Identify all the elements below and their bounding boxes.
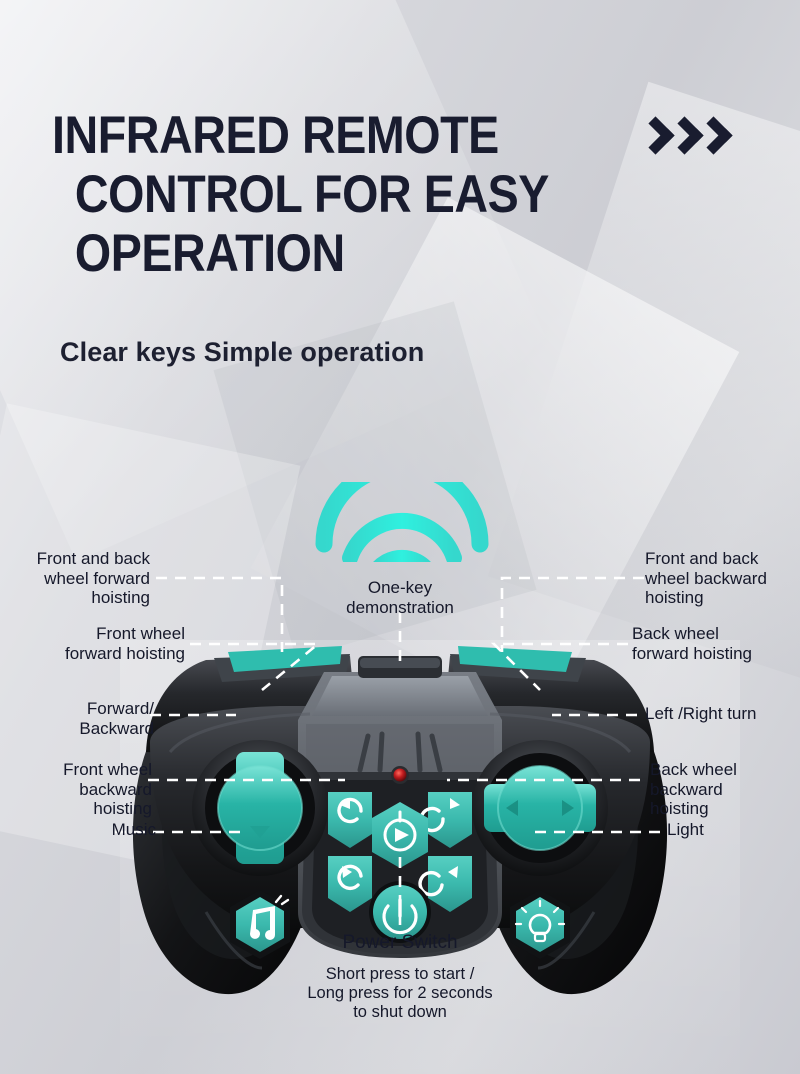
callout-front-wheel-backward-hoisting: Front wheel backward hoisting [63, 760, 152, 819]
page-subtitle: Clear keys Simple operation [60, 337, 424, 368]
headline-line-1: INFRARED REMOTE [52, 106, 499, 165]
callout-back-wheel-backward-hoisting: Back wheel backward hoisting [650, 760, 737, 819]
wifi-waves-icon [312, 482, 492, 562]
page-title: INFRARED REMOTE CONTROL FOR EASY OPERATI… [52, 106, 668, 283]
callout-back-wheel-forward-hoisting: Back wheel forward hoisting [632, 624, 752, 663]
headline-line-2: CONTROL FOR EASY OPERATION [75, 165, 668, 283]
chevron-right-icon [669, 116, 695, 164]
callout-left-right-turn: Left /Right turn [645, 704, 757, 724]
chevron-right-icon [698, 116, 724, 164]
callout-forward-backward: Forward/ Backward [79, 699, 154, 738]
callout-power-switch-title: Power Switch [0, 933, 800, 953]
callout-front-wheel-forward-hoisting: Front wheel forward hoisting [65, 624, 185, 663]
infographic-stage: INFRARED REMOTE CONTROL FOR EASY OPERATI… [0, 0, 800, 1074]
callout-light: Light [667, 820, 704, 840]
chevron-right-icon [640, 116, 666, 164]
callout-music: Music [112, 820, 156, 840]
callout-power-switch-description: Short press to start / Long press for 2 … [0, 965, 800, 1022]
callout-one-key-demonstration: One-key demonstration [0, 578, 800, 617]
chevron-right-icon-group [640, 116, 724, 164]
led-indicator-icon [394, 769, 407, 782]
